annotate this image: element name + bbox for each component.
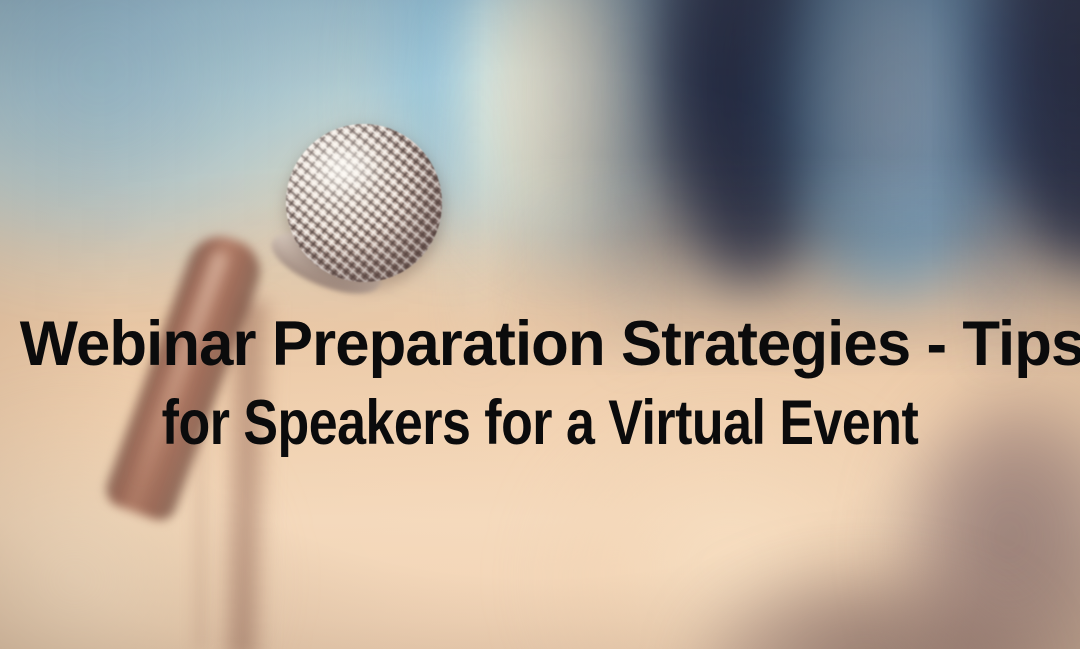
title-line-1: Webinar Preparation Strategies - Tips bbox=[20, 305, 1080, 384]
page-title: Webinar Preparation Strategies - Tips fo… bbox=[0, 305, 1080, 463]
microphone-grille bbox=[276, 114, 452, 292]
title-line-2: for Speakers for a Virtual Event bbox=[162, 384, 919, 463]
webinar-title-card: Webinar Preparation Strategies - Tips fo… bbox=[0, 0, 1080, 649]
